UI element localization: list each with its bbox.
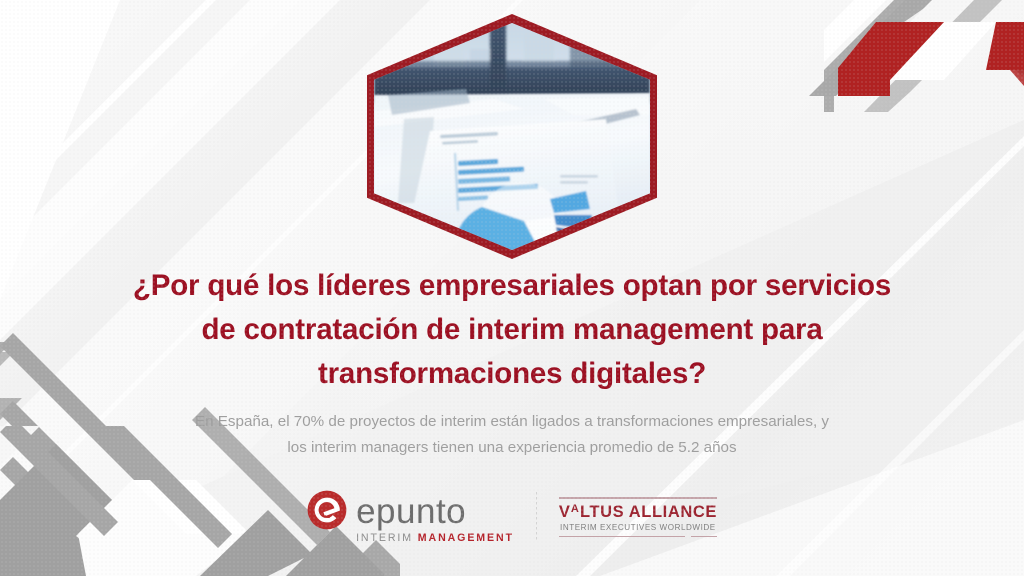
valtus-name-part-1: V [559,503,571,522]
epunto-tagline-word-2: MANAGEMENT [418,532,514,544]
vertical-dotted-divider [536,492,537,542]
valtus-caret-a-icon: A [571,503,580,515]
subtitle-line-2: los interim managers tienen una experien… [110,435,914,461]
presentation-slide: ¿Por qué los líderes empresariales optan… [0,0,1024,576]
slide-subtitle: En España, el 70% de proyectos de interi… [0,409,1024,461]
epunto-tagline: INTERIM MANAGEMENT [356,532,514,544]
epunto-tagline-word-1: INTERIM [356,532,413,544]
slide-title: ¿Por qué los líderes empresariales optan… [0,264,1024,396]
epunto-e-circle-icon [307,490,347,530]
valtus-wordmark: VALTUS ALLIANCE [559,503,717,522]
valtus-rule-top [559,497,717,499]
title-line-1: ¿Por qué los líderes empresariales optan… [52,264,972,308]
valtus-tagline: INTERIM EXECUTIVES WORLDWIDE [560,523,716,532]
valtus-name-part-2: LTUS ALLIANCE [580,503,717,522]
subtitle-line-1: En España, el 70% de proyectos de interi… [110,409,914,435]
hero-hexagon [367,14,657,259]
epunto-logo-top: epunto [307,490,466,530]
epunto-logo: epunto INTERIM MANAGEMENT [307,490,514,544]
logo-row: epunto INTERIM MANAGEMENT VALTUS ALLIANC… [0,486,1024,548]
title-line-3: transformaciones digitales? [52,352,972,396]
valtus-rule-bottom-long [559,536,685,538]
valtus-rule-bottom-short [691,536,717,538]
valtus-rule-bottom [559,536,717,538]
epunto-wordmark: epunto [356,494,466,529]
title-line-2: de contratación de interim management pa… [52,308,972,352]
corner-graphic-top-right [824,0,1024,112]
valtus-alliance-logo: VALTUS ALLIANCE INTERIM EXECUTIVES WORLD… [559,497,717,537]
